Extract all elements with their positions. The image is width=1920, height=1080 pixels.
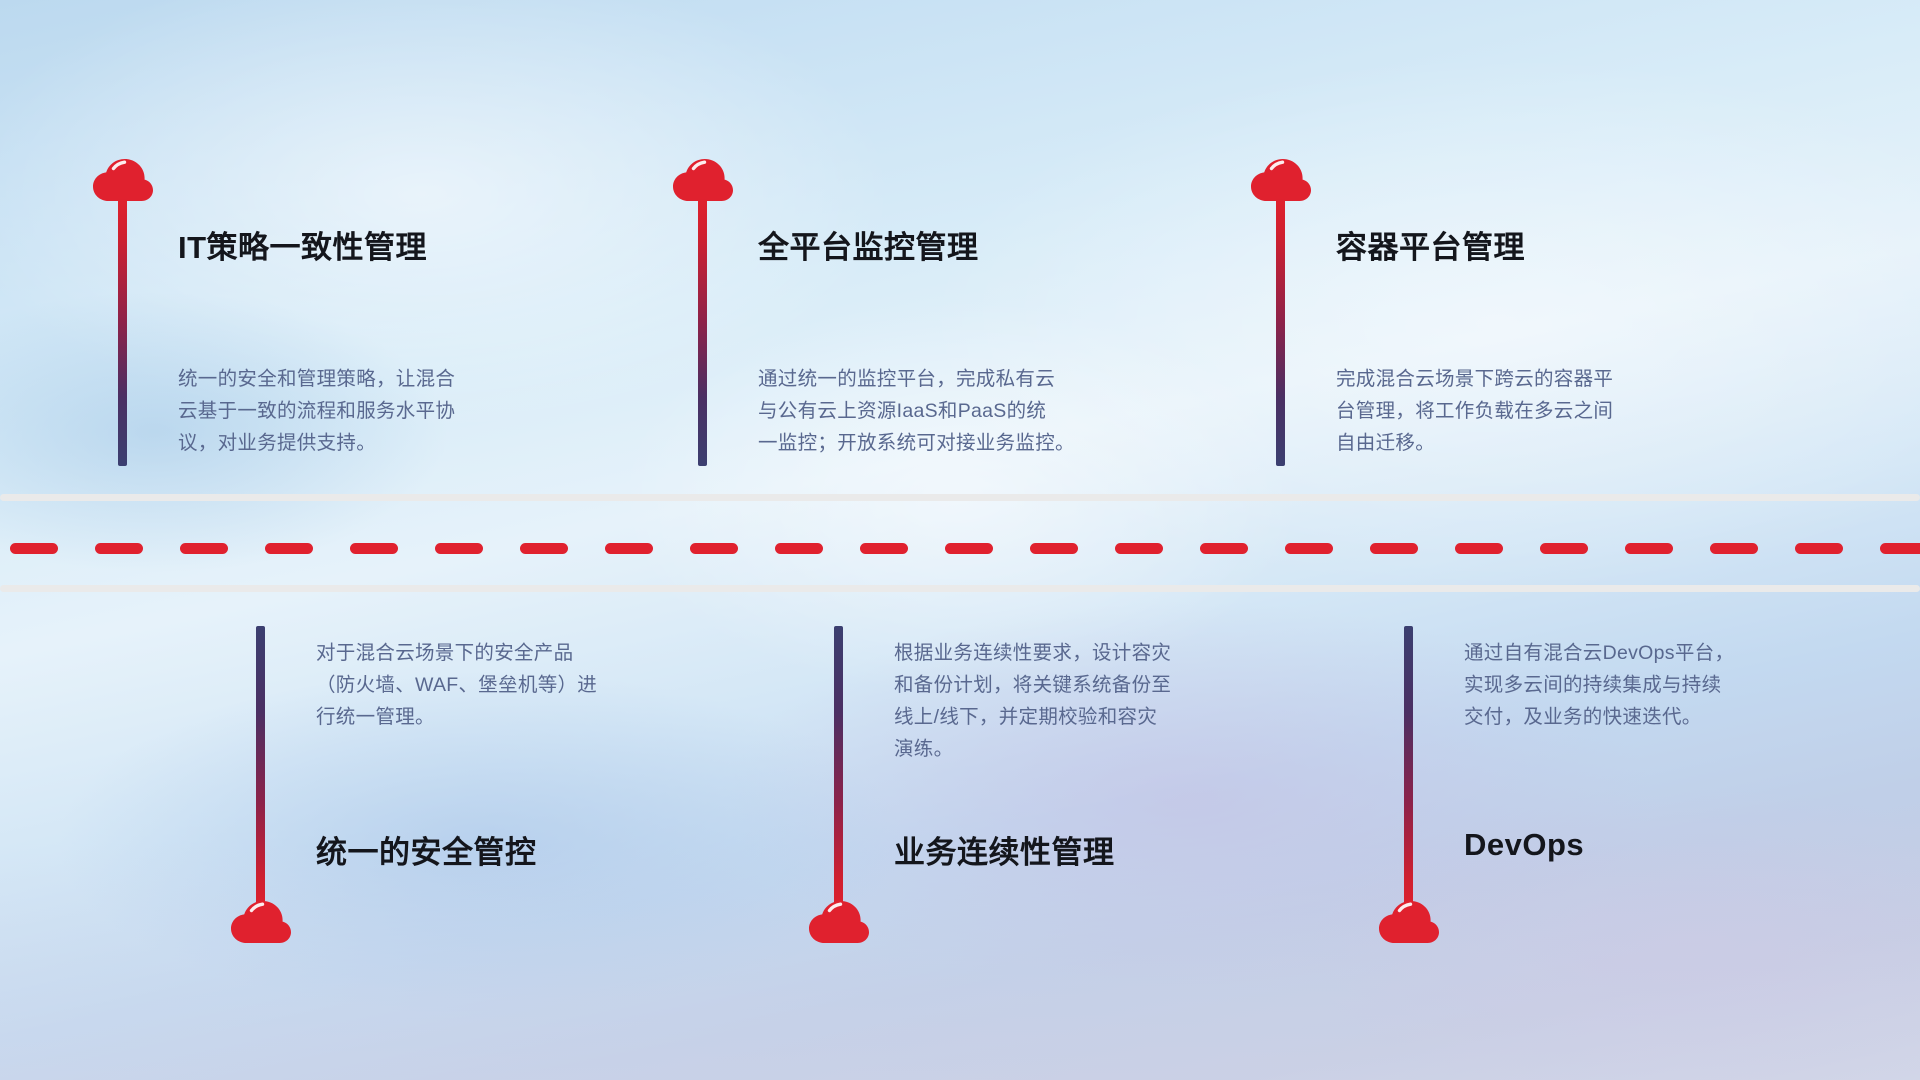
top-body-2: 通过统一的监控平台，完成私有云 与公有云上资源IaaS和PaaS的统 一监控；开… [758, 363, 1218, 459]
divider-dash [520, 543, 568, 554]
divider-dash [1625, 543, 1673, 554]
divider-dash [1285, 543, 1333, 554]
divider-dash [10, 543, 58, 554]
connector-stem [1276, 198, 1285, 466]
connector-stem [118, 198, 127, 466]
divider-dash [95, 543, 143, 554]
divider-dash [435, 543, 483, 554]
divider-dash [1455, 543, 1503, 554]
cloud-icon [672, 158, 734, 202]
divider-dash [1710, 543, 1758, 554]
top-heading-3: 容器平台管理 [1336, 222, 1525, 267]
divider-dash [860, 543, 908, 554]
cloud-icon [1378, 900, 1440, 944]
divider-white-top [0, 494, 1920, 501]
connector-stem [256, 626, 265, 914]
cloud-icon [808, 900, 870, 944]
top-body-3: 完成混合云场景下跨云的容器平 台管理，将工作负载在多云之间 自由迁移。 [1336, 363, 1766, 459]
divider-dash [1795, 543, 1843, 554]
divider-dash [350, 543, 398, 554]
divider-dash [1030, 543, 1078, 554]
top-body-1: 统一的安全和管理策略，让混合 云基于一致的流程和服务水平协 议，对业务提供支持。 [178, 363, 608, 459]
divider-dash [1370, 543, 1418, 554]
divider-dash [1200, 543, 1248, 554]
divider-dash [690, 543, 738, 554]
divider-dash [775, 543, 823, 554]
cloud-icon [92, 158, 154, 202]
divider-dash [1115, 543, 1163, 554]
top-heading-1: IT策略一致性管理 [178, 222, 427, 267]
connector-stem [698, 198, 707, 466]
connector-stem [834, 626, 843, 914]
divider-dashed-red [0, 543, 1920, 554]
divider-white-bottom [0, 585, 1920, 592]
divider-dash [1880, 543, 1920, 554]
divider-dash [1540, 543, 1588, 554]
bottom-heading-1: 统一的安全管控 [316, 827, 537, 872]
divider-dash [945, 543, 993, 554]
divider-dash [265, 543, 313, 554]
divider-dash [180, 543, 228, 554]
bottom-body-3: 通过自有混合云DevOps平台， 实现多云间的持续集成与持续 交付，及业务的快速… [1464, 637, 1894, 733]
top-heading-2: 全平台监控管理 [758, 222, 979, 267]
bottom-heading-3: DevOps [1464, 827, 1584, 863]
cloud-icon [230, 900, 292, 944]
bottom-heading-2: 业务连续性管理 [894, 827, 1115, 872]
connector-stem [1404, 626, 1413, 914]
bottom-body-1: 对于混合云场景下的安全产品 （防火墙、WAF、堡垒机等）进 行统一管理。 [316, 637, 746, 733]
cloud-icon [1250, 158, 1312, 202]
divider-dash [605, 543, 653, 554]
bottom-body-2: 根据业务连续性要求，设计容灾 和备份计划，将关键系统备份至 线上/线下，并定期校… [894, 637, 1324, 765]
